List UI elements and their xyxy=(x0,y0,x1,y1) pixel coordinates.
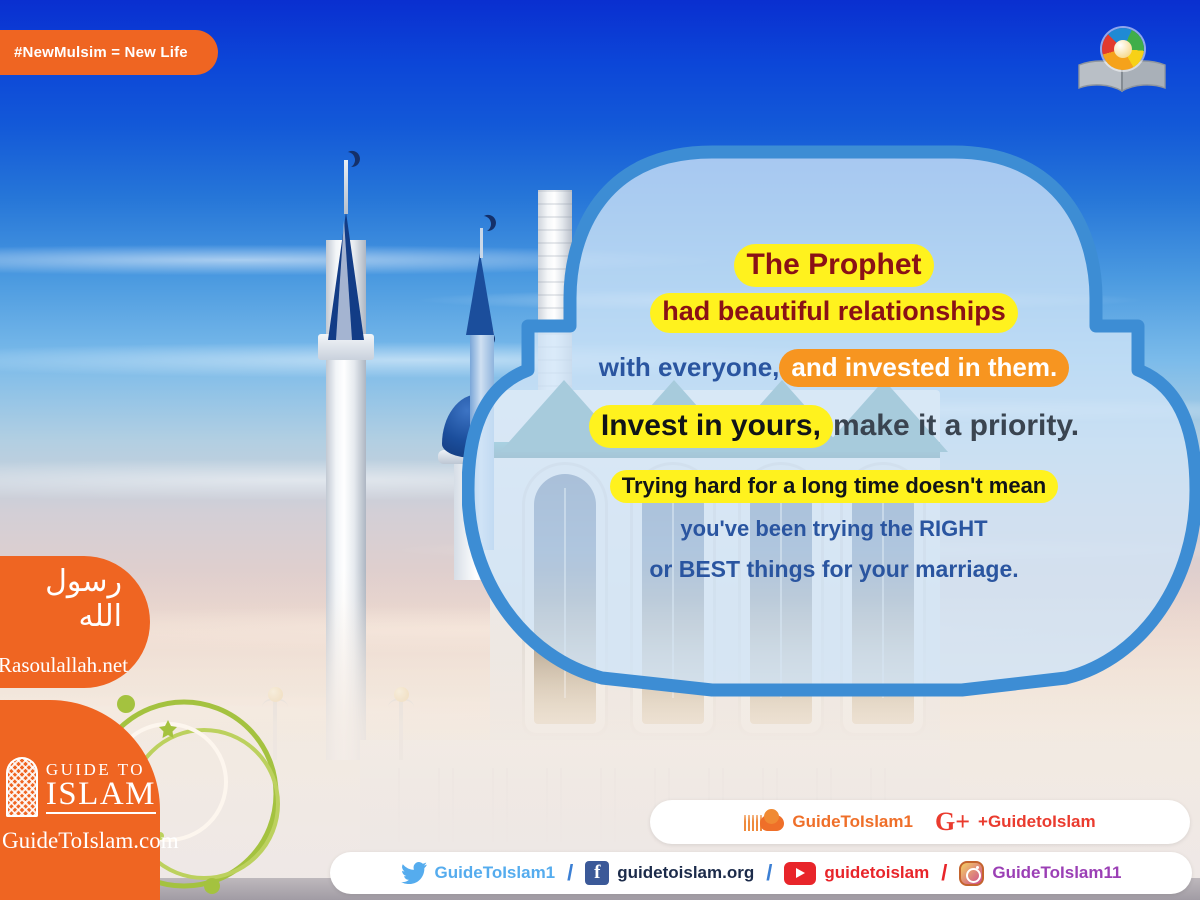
social-bar-secondary: GuideToIslam1 / f guidetoislam.org / gui… xyxy=(330,852,1192,894)
twitter-label: GuideToIslam1 xyxy=(435,863,556,883)
guide-word-top: GUIDE TO xyxy=(46,761,156,778)
social-link-google-plus[interactable]: G+ +GuidetoIslam xyxy=(935,809,1096,835)
google-plus-icon: G+ xyxy=(935,809,970,835)
poster-canvas: #NewMulsim = New Life رسول الله Rasoulal… xyxy=(0,0,1200,900)
mihrab-icon xyxy=(6,757,38,817)
quote-line-6: you've been trying the RIGHT xyxy=(524,515,1144,542)
guide-word-bottom: ISLAM xyxy=(46,778,156,814)
facebook-icon: f xyxy=(585,861,609,885)
google-plus-label: +GuidetoIslam xyxy=(978,812,1096,832)
social-bar-primary: GuideToIslam1 G+ +GuidetoIslam xyxy=(650,800,1190,844)
hashtag-badge: #NewMulsim = New Life xyxy=(0,30,218,75)
instagram-icon xyxy=(959,861,984,886)
social-link-twitter[interactable]: GuideToIslam1 xyxy=(401,862,556,884)
arabic-calligraphy: رسول الله xyxy=(2,568,122,630)
rasoulallah-domain: Rasoulallah.net xyxy=(0,653,128,678)
quote-line-3: with everyone,and invested in them. xyxy=(524,349,1144,387)
rasoulallah-badge[interactable]: رسول الله Rasoulallah.net xyxy=(0,556,150,688)
separator-slash: / xyxy=(567,860,573,886)
colorful-globe-icon xyxy=(1102,28,1144,70)
crescent-icon xyxy=(336,149,357,170)
guide-to-islam-domain: GuideToIslam.com xyxy=(2,828,179,854)
quote-line-5: Trying hard for a long time doesn't mean xyxy=(524,470,1144,503)
separator-slash: / xyxy=(766,860,772,886)
youtube-label: guidetoislam xyxy=(824,863,929,883)
quote-panel: The Prophet had beautiful relationships … xyxy=(462,138,1200,703)
quote-line-1: The Prophet xyxy=(524,244,1144,287)
brand-logo[interactable] xyxy=(1076,26,1168,98)
soundcloud-label: GuideToIslam1 xyxy=(792,812,913,832)
quote-line-2: had beautiful relationships xyxy=(524,293,1144,332)
facebook-label: guidetoislam.org xyxy=(617,863,754,883)
instagram-label: GuideToIslam11 xyxy=(992,863,1121,883)
social-link-soundcloud[interactable]: GuideToIslam1 xyxy=(744,812,913,832)
separator-slash: / xyxy=(941,860,947,886)
lamp-post xyxy=(386,674,416,760)
minaret-primary xyxy=(318,160,374,760)
lamp-post xyxy=(260,674,290,760)
social-link-facebook[interactable]: f guidetoislam.org xyxy=(585,861,754,885)
quote-text-block: The Prophet had beautiful relationships … xyxy=(524,244,1144,589)
guide-to-islam-logo: GUIDE TO ISLAM xyxy=(6,752,156,822)
twitter-icon xyxy=(401,862,427,884)
social-link-instagram[interactable]: GuideToIslam11 xyxy=(959,861,1121,886)
youtube-icon xyxy=(784,862,816,885)
quote-line-7: or BEST things for your marriage. xyxy=(524,555,1144,584)
quote-line-4: Invest in yours,make it a priority. xyxy=(524,405,1144,448)
soundcloud-icon xyxy=(744,813,784,831)
social-link-youtube[interactable]: guidetoislam xyxy=(784,862,929,885)
